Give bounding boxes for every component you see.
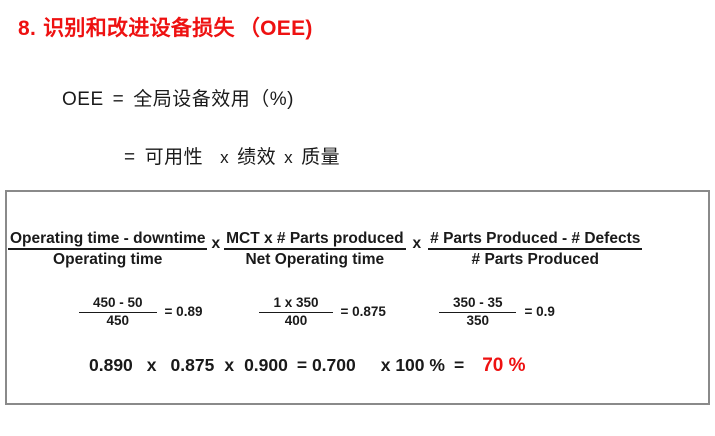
equals-sign-2: =	[124, 147, 136, 168]
numeric-fraction-1: 450 - 50 450	[79, 296, 157, 329]
final-multiply-1: x	[147, 355, 157, 376]
title-number: 8.	[18, 17, 36, 40]
numeric-group-quality: 350 - 35 350 = 0.9	[439, 296, 555, 329]
numeric-group-performance: 1 x 350 400 = 0.875	[259, 296, 385, 329]
final-value-3: 0.900	[244, 355, 288, 376]
symbolic-multiply-1: x	[207, 235, 224, 253]
formula-box: Operating time - downtime Operating time…	[5, 190, 710, 405]
numeric-denominator-1: 450	[107, 313, 130, 329]
performance-fraction: MCT x # Parts produced Net Operating tim…	[224, 230, 405, 268]
multiply-sign-1: x	[220, 148, 229, 167]
oee-definition-value: 全局设备效用（%)	[133, 89, 294, 110]
quality-term: 质量	[301, 147, 340, 168]
final-value-1: 0.890	[89, 355, 133, 376]
performance-denominator: Net Operating time	[245, 250, 384, 268]
quality-numerator: # Parts Produced - # Defects	[428, 230, 642, 250]
numeric-result-1: = 0.89	[165, 304, 203, 319]
availability-numerator: Operating time - downtime	[8, 230, 207, 250]
symbolic-multiply-2: x	[406, 235, 429, 253]
quality-denominator: # Parts Produced	[472, 250, 600, 268]
oee-label: OEE	[62, 89, 104, 110]
final-multiplier: x 100 %	[381, 355, 445, 376]
final-value-2: 0.875	[171, 355, 215, 376]
numeric-result-3: = 0.9	[524, 304, 554, 319]
title-suffix: （OEE)	[239, 17, 313, 40]
availability-denominator: Operating time	[53, 250, 162, 268]
numeric-group-availability: 450 - 50 450 = 0.89	[79, 296, 202, 329]
oee-definition-line-1: OEE=全局设备效用（%)	[62, 84, 294, 111]
performance-numerator: MCT x # Parts produced	[224, 230, 405, 250]
symbolic-formula-row: Operating time - downtime Operating time…	[7, 230, 712, 268]
numeric-fraction-3: 350 - 35 350	[439, 296, 517, 329]
numeric-fraction-2: 1 x 350 400	[259, 296, 332, 329]
performance-term: 绩效	[237, 147, 276, 168]
final-equals-2: =	[454, 355, 464, 376]
final-result-row: 0.890 x 0.875 x 0.900 = 0.700 x 100 % = …	[7, 355, 712, 377]
numeric-numerator-1: 450 - 50	[79, 296, 157, 313]
numeric-denominator-2: 400	[285, 313, 308, 329]
quality-fraction: # Parts Produced - # Defects # Parts Pro…	[428, 230, 642, 268]
numeric-formula-row: 450 - 50 450 = 0.89 1 x 350 400 = 0.875 …	[7, 296, 712, 329]
availability-fraction: Operating time - downtime Operating time	[8, 230, 207, 268]
numeric-numerator-2: 1 x 350	[259, 296, 332, 313]
oee-definition-line-2: =可用性x绩效x质量	[124, 142, 340, 169]
final-equals-1: = 0.700	[297, 355, 356, 376]
final-multiply-2: x	[224, 355, 234, 376]
page-title: 8.识别和改进设备损失（OEE)	[18, 12, 313, 42]
final-answer: 70 %	[482, 355, 525, 377]
numeric-numerator-3: 350 - 35	[439, 296, 517, 313]
numeric-denominator-3: 350	[466, 313, 489, 329]
multiply-sign-2: x	[284, 148, 293, 167]
availability-term: 可用性	[145, 147, 204, 168]
equals-sign-1: =	[113, 89, 125, 110]
title-text: 识别和改进设备损失	[43, 17, 235, 40]
numeric-result-2: = 0.875	[341, 304, 386, 319]
